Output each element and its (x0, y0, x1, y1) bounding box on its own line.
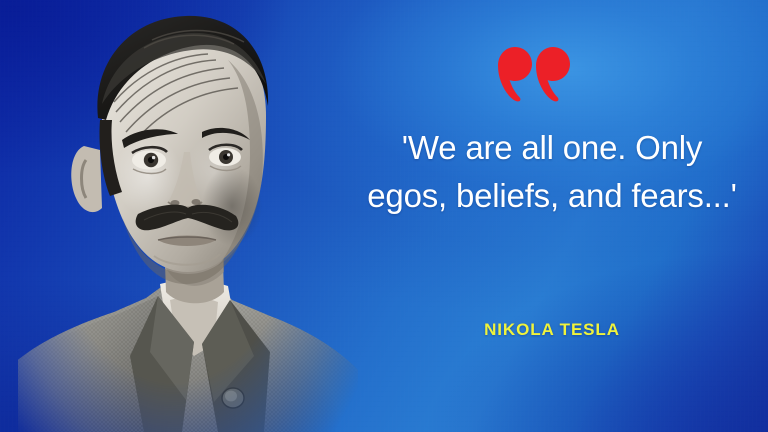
quote-text: 'We are all one. Only egos, beliefs, and… (356, 124, 748, 220)
quote-line-2: egos, beliefs, and fears...' (356, 172, 748, 220)
double-quote-icon (498, 44, 570, 104)
quote-line-1: 'We are all one. Only (356, 124, 748, 172)
portrait-illustration (18, 0, 358, 432)
quote-card: 'We are all one. Only egos, beliefs, and… (0, 0, 768, 432)
quote-attribution: NIKOLA TESLA (356, 320, 748, 340)
portrait-photo (18, 0, 358, 432)
double-quote-glyph (498, 44, 570, 104)
portrait-image (18, 0, 358, 432)
